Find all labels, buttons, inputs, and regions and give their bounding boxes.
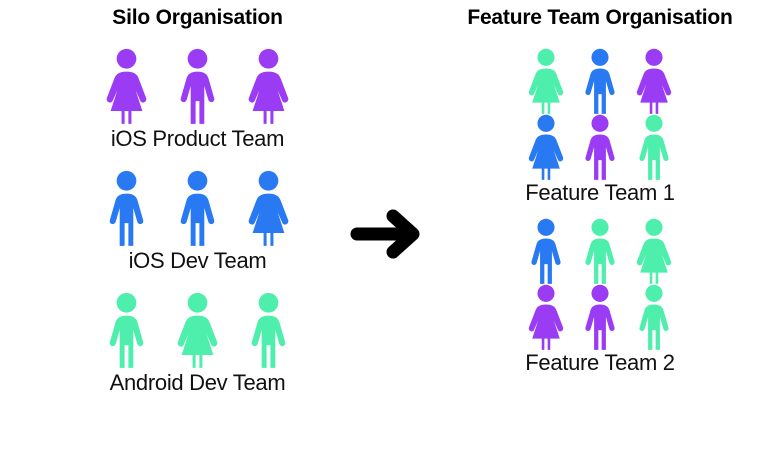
team-label: Feature Team 1 — [490, 180, 710, 206]
team-group: Android Dev Team — [70, 292, 325, 396]
team-people-rows — [70, 170, 325, 246]
team-label: Feature Team 2 — [490, 350, 710, 376]
person-row — [490, 284, 710, 350]
person-male-blue-icon — [523, 218, 569, 284]
team-label: iOS Product Team — [70, 126, 325, 152]
person-female-blue-icon — [242, 170, 295, 246]
person-male-green-icon — [242, 292, 295, 368]
person-female-green-icon — [523, 48, 569, 114]
arrow-right-icon — [348, 205, 428, 261]
person-female-purple-icon — [631, 48, 677, 114]
person-male-purple-icon — [577, 114, 623, 180]
person-row — [490, 48, 710, 114]
heading-silo-organisation: Silo Organisation — [70, 6, 325, 30]
person-female-blue-icon — [523, 114, 569, 180]
person-male-blue-icon — [100, 170, 153, 246]
person-male-green-icon — [631, 114, 677, 180]
team-group: iOS Dev Team — [70, 170, 325, 274]
heading-feature-team-organisation: Feature Team Organisation — [440, 6, 760, 30]
person-male-blue-icon — [171, 170, 224, 246]
person-row — [70, 292, 325, 368]
team-people-rows — [70, 292, 325, 368]
person-male-purple-icon — [171, 48, 224, 124]
person-row — [490, 218, 710, 284]
person-female-green-icon — [631, 218, 677, 284]
person-male-green-icon — [577, 218, 623, 284]
team-people-rows — [70, 48, 325, 124]
feature-team-organisation-column: Feature Team 1Feature Team 2 — [490, 48, 710, 388]
team-group: Feature Team 1 — [490, 48, 710, 206]
person-male-blue-icon — [577, 48, 623, 114]
team-label: Android Dev Team — [70, 370, 325, 396]
person-male-purple-icon — [577, 284, 623, 350]
person-row — [70, 170, 325, 246]
person-female-purple-icon — [242, 48, 295, 124]
team-group: Feature Team 2 — [490, 218, 710, 376]
person-row — [70, 48, 325, 124]
team-people-rows — [490, 218, 710, 350]
person-male-green-icon — [100, 292, 153, 368]
team-people-rows — [490, 48, 710, 180]
team-label: iOS Dev Team — [70, 248, 325, 274]
person-female-purple-icon — [523, 284, 569, 350]
team-group: iOS Product Team — [70, 48, 325, 152]
silo-organisation-column: iOS Product TeamiOS Dev TeamAndroid Dev … — [70, 48, 325, 414]
person-female-purple-icon — [100, 48, 153, 124]
person-row — [490, 114, 710, 180]
person-male-green-icon — [631, 284, 677, 350]
person-female-green-icon — [171, 292, 224, 368]
